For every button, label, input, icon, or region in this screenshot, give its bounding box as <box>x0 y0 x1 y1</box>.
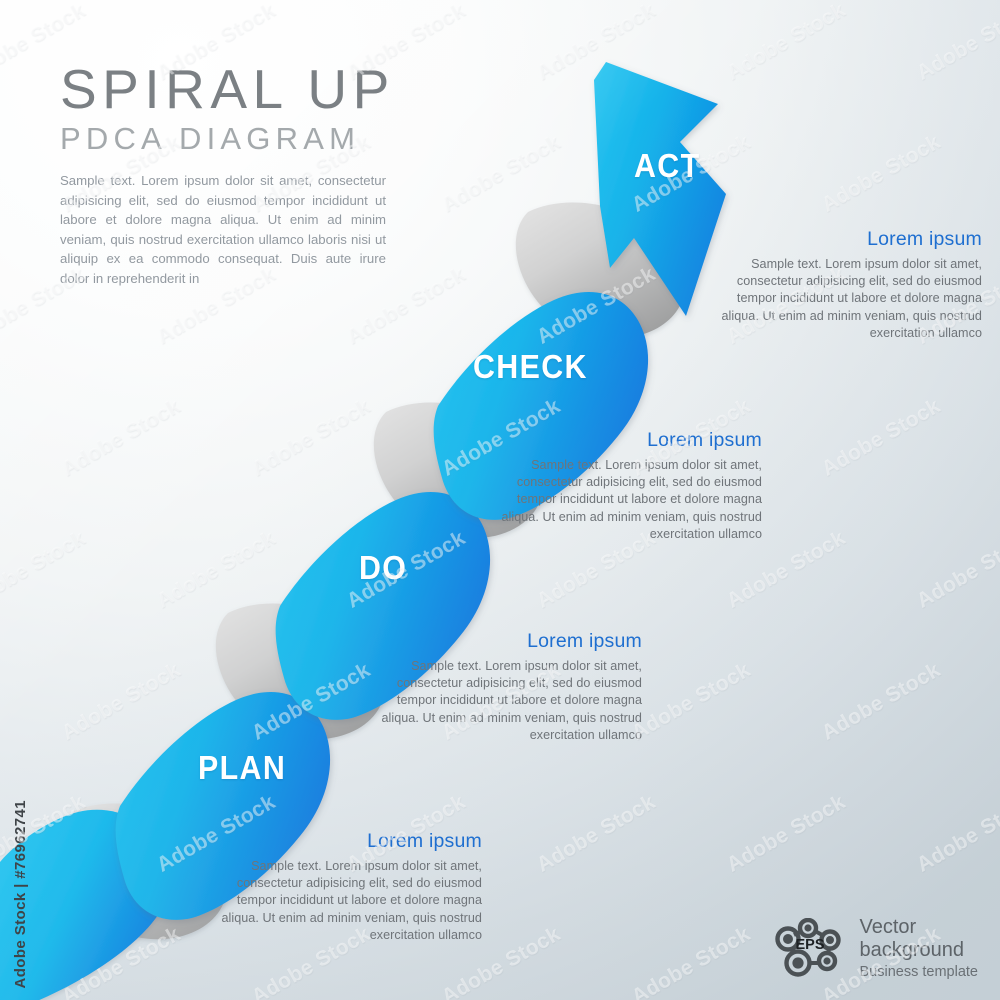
step-heading-do: Lorem ipsum <box>364 629 642 653</box>
step-body-act: Sample text. Lorem ipsum dolor sit amet,… <box>704 256 982 342</box>
step-text-block-check: Lorem ipsum Sample text. Lorem ipsum dol… <box>484 428 762 543</box>
vector-background-logo: EPS Vector background Business template <box>772 916 978 982</box>
step-body-plan: Sample text. Lorem ipsum dolor sit amet,… <box>204 858 482 944</box>
step-body-do: Sample text. Lorem ipsum dolor sit amet,… <box>364 658 642 744</box>
eps-badge-label: EPS <box>795 937 824 953</box>
logo-line-3: Business template <box>860 962 978 982</box>
step-label-act[interactable]: ACT <box>634 147 701 185</box>
step-heading-check: Lorem ipsum <box>484 428 762 452</box>
stock-id-watermark: Adobe Stock | #76962741 <box>12 800 29 989</box>
intro-paragraph: Sample text. Lorem ipsum dolor sit amet,… <box>60 171 386 289</box>
step-label-plan[interactable]: PLAN <box>198 749 286 787</box>
logo-line-2: background <box>860 939 978 962</box>
infographic-canvas: SPIRAL UP PDCA DIAGRAM Sample text. Lore… <box>0 0 1000 1000</box>
step-text-block-act: Lorem ipsum Sample text. Lorem ipsum dol… <box>704 227 982 342</box>
step-body-check: Sample text. Lorem ipsum dolor sit amet,… <box>484 457 762 543</box>
step-heading-plan: Lorem ipsum <box>204 829 482 853</box>
step-heading-act: Lorem ipsum <box>704 227 982 251</box>
page-subtitle: PDCA DIAGRAM <box>60 120 400 158</box>
header-block: SPIRAL UP PDCA DIAGRAM Sample text. Lore… <box>60 60 400 289</box>
step-text-block-plan: Lorem ipsum Sample text. Lorem ipsum dol… <box>204 829 482 944</box>
eps-badge-icon: EPS <box>772 918 848 980</box>
page-title: SPIRAL UP <box>60 60 400 118</box>
step-label-do[interactable]: DO <box>359 549 407 587</box>
step-text-block-do: Lorem ipsum Sample text. Lorem ipsum dol… <box>364 629 642 744</box>
step-label-check[interactable]: CHECK <box>473 348 588 386</box>
logo-line-1: Vector <box>860 916 978 939</box>
